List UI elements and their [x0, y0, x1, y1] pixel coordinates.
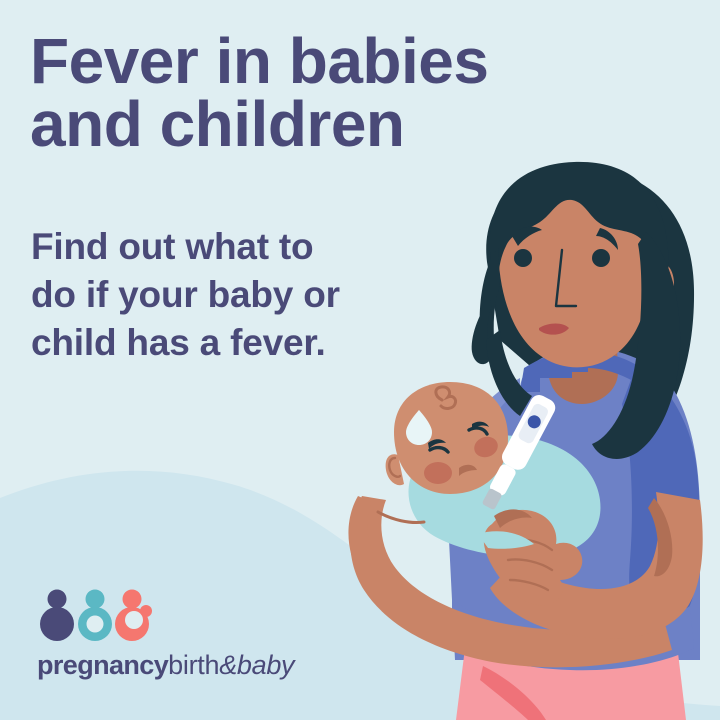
brand-wordmark: pregnancybirth&baby	[37, 652, 307, 679]
brand-logo[interactable]: pregnancybirth&baby	[37, 588, 307, 684]
brand-word-baby: &baby	[219, 650, 294, 680]
baby-head	[386, 382, 508, 494]
pregnancy-birth-baby-figures-icon	[37, 588, 159, 643]
brand-word-birth: birth	[168, 650, 219, 680]
brand-word-pregnancy: pregnancy	[37, 650, 168, 680]
poster-canvas: Fever in babies and children Find out wh…	[0, 0, 720, 720]
page-title: Fever in babies and children	[30, 30, 590, 155]
page-subtitle: Find out what to do if your baby or chil…	[31, 223, 401, 367]
